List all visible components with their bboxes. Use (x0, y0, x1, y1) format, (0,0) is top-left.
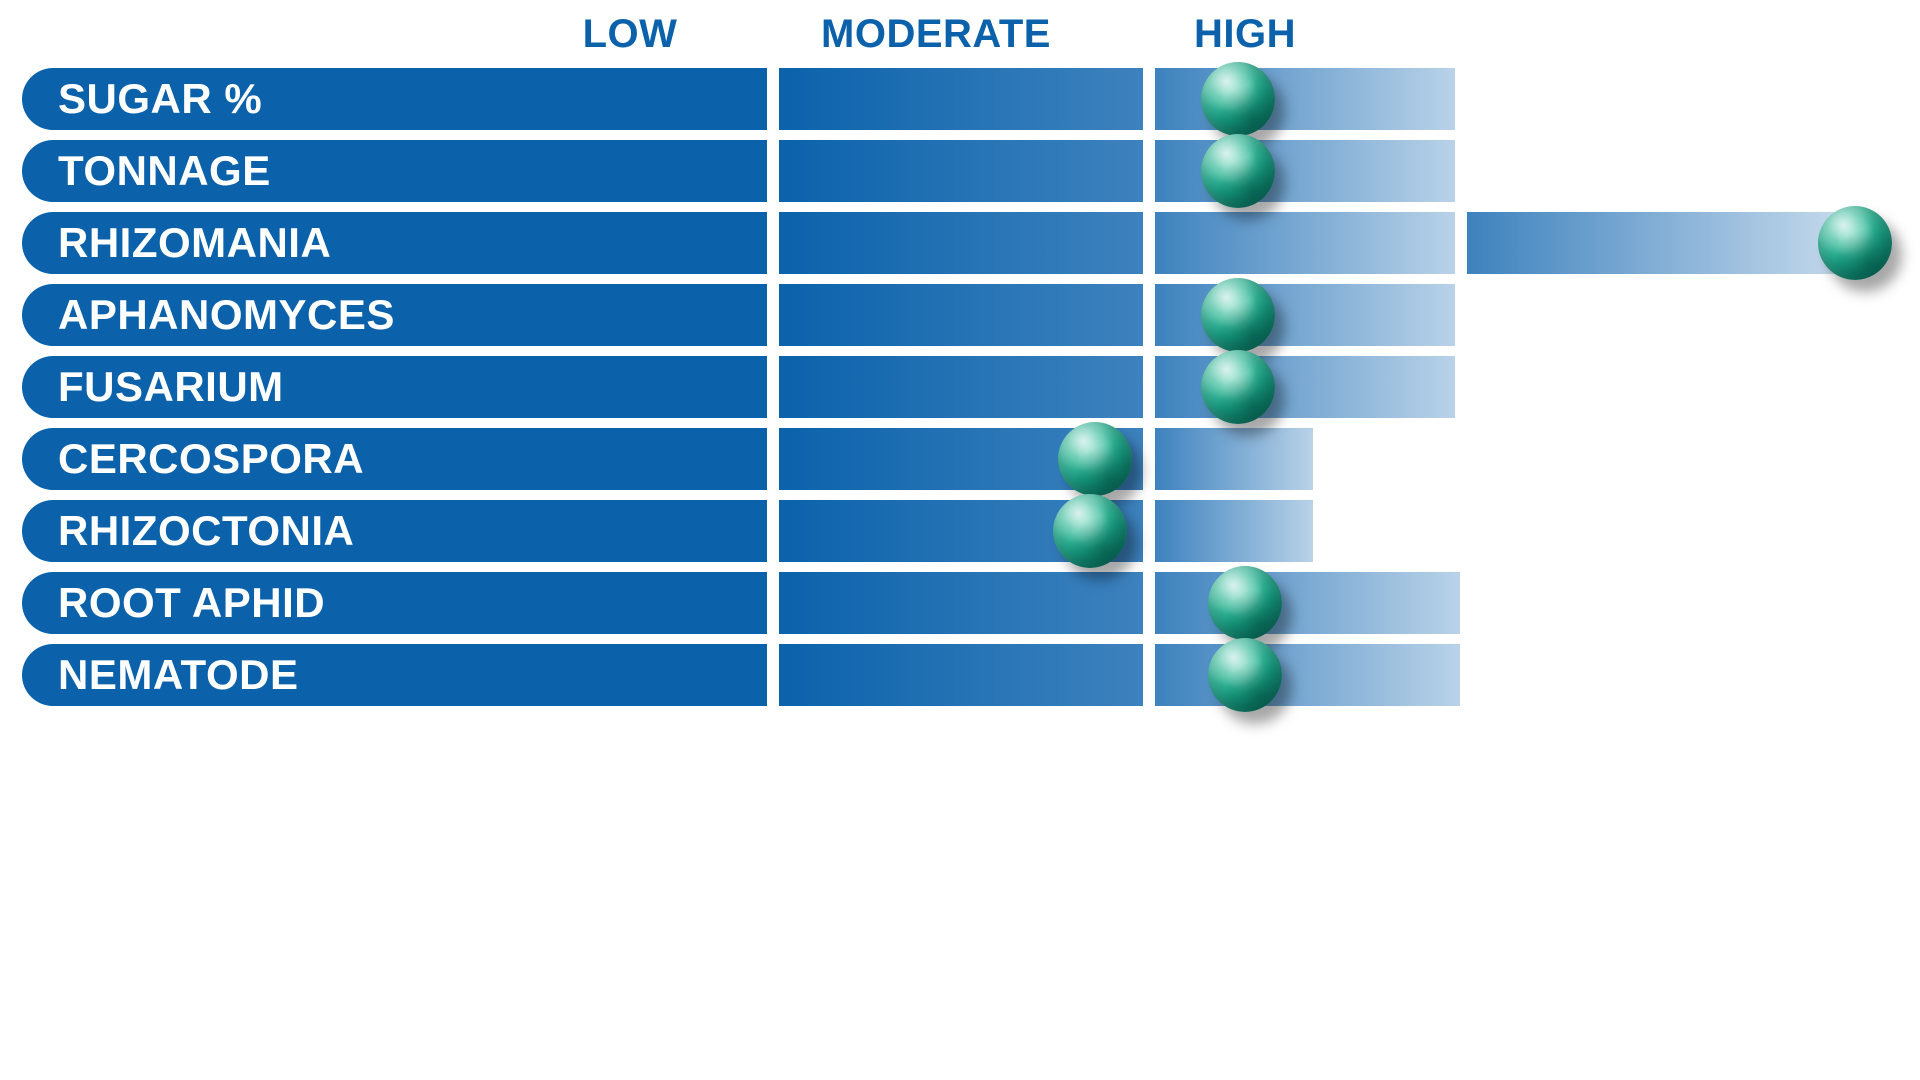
risk-row: CERCOSPORA (0, 428, 1920, 490)
bar-segment-low (779, 572, 1143, 634)
rating-marker-sphere[interactable] (1201, 350, 1275, 424)
risk-scale-chart: LOWMODERATEHIGH SUGAR %TONNAGERHIZOMANIA… (0, 0, 1920, 1080)
rating-marker-sphere[interactable] (1201, 134, 1275, 208)
bar-segment-moderate (1155, 68, 1455, 130)
scale-header: LOWMODERATEHIGH (0, 0, 1920, 62)
scale-label-moderate: MODERATE (821, 14, 1051, 54)
rating-marker-sphere[interactable] (1053, 494, 1127, 568)
bar-segment-moderate (1155, 212, 1455, 274)
risk-row: TONNAGE (0, 140, 1920, 202)
row-label: APHANOMYCES (58, 284, 395, 346)
bar-segment-moderate (1155, 428, 1313, 490)
bar-segment-low (779, 356, 1143, 418)
rating-marker-sphere[interactable] (1058, 422, 1132, 496)
bar-segment-moderate (1155, 572, 1460, 634)
row-label: ROOT APHID (58, 572, 325, 634)
bar-segment-low (779, 68, 1143, 130)
risk-row: ROOT APHID (0, 572, 1920, 634)
rating-marker-sphere[interactable] (1208, 566, 1282, 640)
risk-row: APHANOMYCES (0, 284, 1920, 346)
risk-row: SUGAR % (0, 68, 1920, 130)
row-label: SUGAR % (58, 68, 262, 130)
bar-segment-moderate (1155, 140, 1455, 202)
bar-segment-low (779, 284, 1143, 346)
bar-segment-high (1467, 212, 1872, 274)
bar-segment-moderate (1155, 356, 1455, 418)
bar-segment-low (779, 644, 1143, 706)
bar-segment-low (779, 212, 1143, 274)
bar-segment-moderate (1155, 284, 1455, 346)
bar-segment-moderate (1155, 644, 1460, 706)
rating-marker-sphere[interactable] (1201, 278, 1275, 352)
risk-row: RHIZOCTONIA (0, 500, 1920, 562)
risk-row: RHIZOMANIA (0, 212, 1920, 274)
rating-marker-sphere[interactable] (1818, 206, 1892, 280)
row-label: CERCOSPORA (58, 428, 364, 490)
bar-segment-low (779, 140, 1143, 202)
bar-segment-moderate (1155, 500, 1313, 562)
scale-label-high: HIGH (1194, 14, 1296, 54)
row-label: FUSARIUM (58, 356, 284, 418)
rating-marker-sphere[interactable] (1201, 62, 1275, 136)
risk-row: NEMATODE (0, 644, 1920, 706)
row-label: NEMATODE (58, 644, 298, 706)
rating-marker-sphere[interactable] (1208, 638, 1282, 712)
row-label: TONNAGE (58, 140, 271, 202)
row-label: RHIZOCTONIA (58, 500, 354, 562)
scale-label-low: LOW (583, 14, 678, 54)
row-label: RHIZOMANIA (58, 212, 331, 274)
risk-row: FUSARIUM (0, 356, 1920, 418)
